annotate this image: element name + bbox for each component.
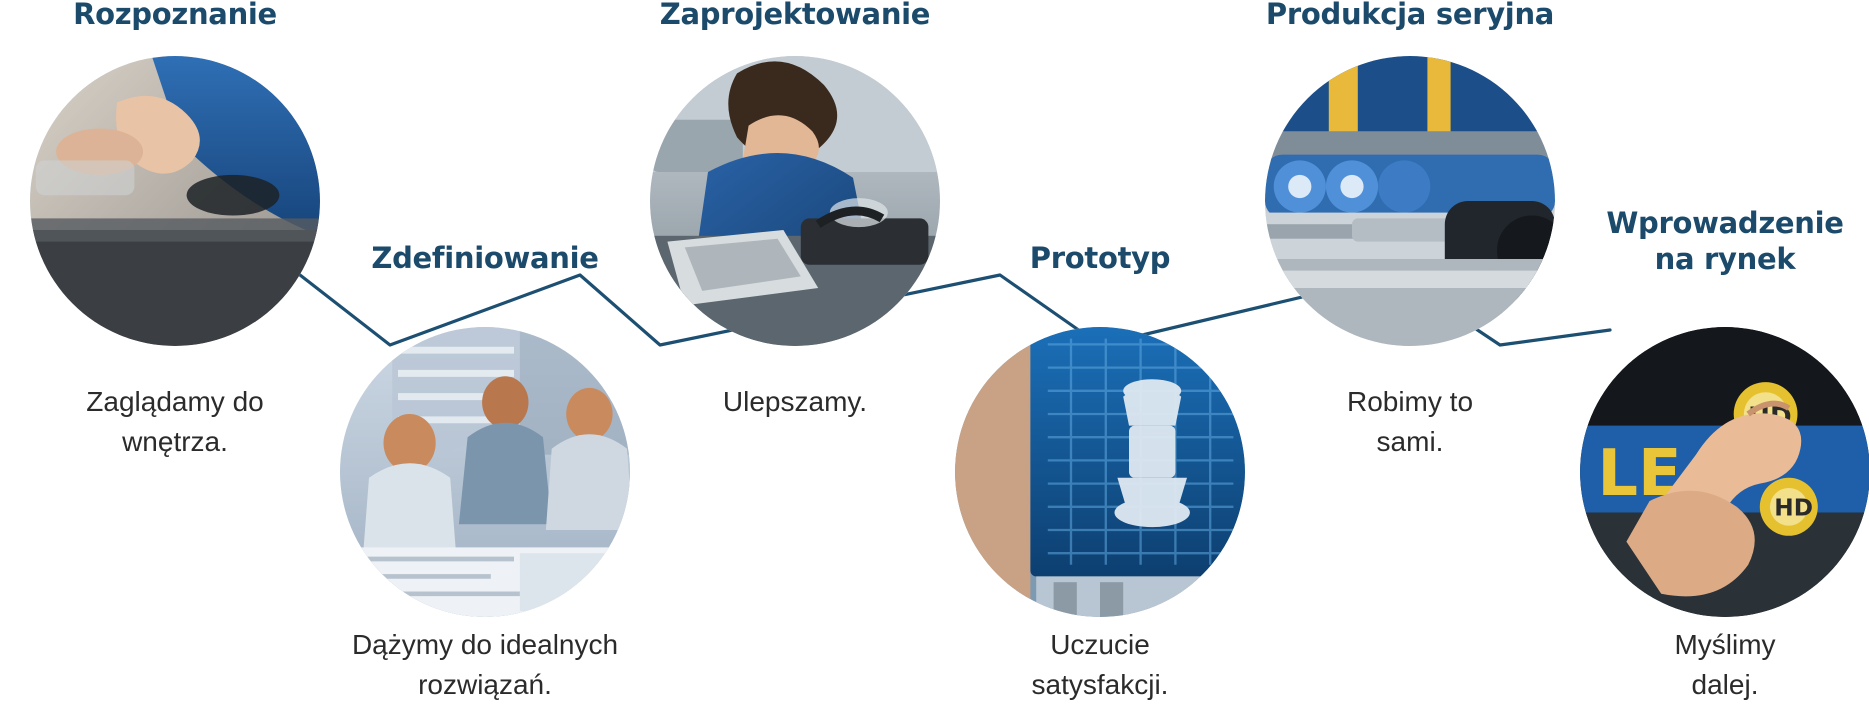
process-infographic: Rozpoznanie Zaglądamy do wnętrza. bbox=[0, 0, 1869, 705]
step-heading-zaprojektowanie: Zaprojektowanie bbox=[645, 0, 945, 32]
step-heading-rozpoznanie: Rozpoznanie bbox=[35, 0, 315, 32]
step-heading-produkcja-seryjna: Produkcja seryjna bbox=[1255, 0, 1565, 32]
step-caption-rozpoznanie: Zaglądamy do wnętrza. bbox=[25, 382, 325, 462]
step-heading-prototyp: Prototyp bbox=[960, 240, 1240, 276]
step-image-produkcja-seryjna bbox=[1265, 56, 1555, 346]
step-caption-zaprojektowanie: Ulepszamy. bbox=[645, 382, 945, 422]
step-image-wprowadzenie-na-rynek: LE HD HD bbox=[1580, 327, 1869, 617]
step-image-zaprojektowanie bbox=[650, 56, 940, 346]
step-heading-zdefiniowanie: Zdefiniowanie bbox=[345, 240, 625, 276]
step-image-zdefiniowanie bbox=[340, 327, 630, 617]
step-caption-zdefiniowanie: Dążymy do idealnych rozwiązań. bbox=[310, 625, 660, 705]
svg-text:HD: HD bbox=[1774, 495, 1813, 522]
step-caption-prototyp: Uczucie satysfakcji. bbox=[950, 625, 1250, 705]
step-image-prototyp bbox=[955, 327, 1245, 617]
step-caption-wprowadzenie-na-rynek: Myślimy dalej. bbox=[1580, 625, 1869, 705]
step-image-rozpoznanie bbox=[30, 56, 320, 346]
step-heading-wprowadzenie-na-rynek: Wprowadzenie na rynek bbox=[1585, 205, 1865, 277]
step-caption-produkcja-seryjna: Robimy to sami. bbox=[1260, 382, 1560, 462]
